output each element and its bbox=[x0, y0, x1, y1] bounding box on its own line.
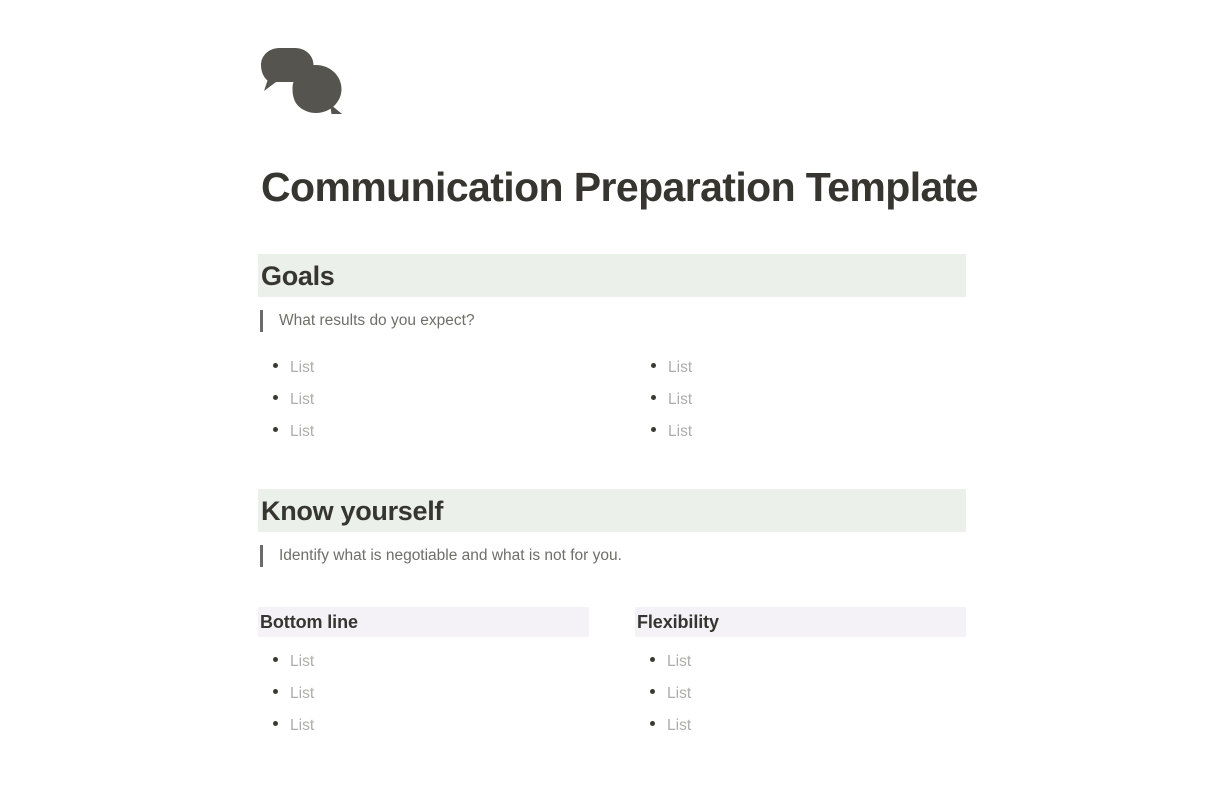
bullet-icon bbox=[273, 363, 278, 368]
callout-text: Identify what is negotiable and what is … bbox=[279, 544, 622, 567]
list-item-text: List bbox=[667, 710, 691, 742]
callout-know-yourself: Identify what is negotiable and what is … bbox=[260, 544, 966, 567]
callout-bar bbox=[260, 545, 263, 567]
list-item[interactable]: List bbox=[635, 646, 966, 678]
goals-column-left: List List List bbox=[258, 352, 636, 448]
bullet-icon bbox=[651, 363, 656, 368]
list-item[interactable]: List bbox=[258, 646, 589, 678]
goals-list-columns: List List List List bbox=[258, 352, 966, 448]
list-item[interactable]: List bbox=[258, 710, 589, 742]
bullet-icon bbox=[273, 427, 278, 432]
callout-text: What results do you expect? bbox=[279, 309, 475, 332]
subsection-heading-band: Flexibility bbox=[635, 607, 966, 637]
list-item-text: List bbox=[667, 678, 691, 710]
goals-column-right: List List List bbox=[636, 352, 966, 448]
bullet-icon bbox=[650, 721, 655, 726]
list-item[interactable]: List bbox=[636, 416, 966, 448]
know-yourself-subsections: Bottom line List List List bbox=[258, 607, 966, 742]
list-item[interactable]: List bbox=[635, 710, 966, 742]
bullet-icon bbox=[273, 689, 278, 694]
list-item[interactable]: List bbox=[258, 384, 636, 416]
list-item[interactable]: List bbox=[636, 384, 966, 416]
document-body: Communication Preparation Template Goals… bbox=[258, 0, 966, 742]
subsection-flexibility: Flexibility List List List bbox=[635, 607, 966, 742]
list-item[interactable]: List bbox=[258, 416, 636, 448]
list-item[interactable]: List bbox=[258, 352, 636, 384]
speech-bubbles-icon bbox=[258, 46, 348, 116]
subsection-heading-band: Bottom line bbox=[258, 607, 589, 637]
list-item-text: List bbox=[668, 416, 692, 448]
list-item-text: List bbox=[290, 384, 314, 416]
list-item[interactable]: List bbox=[636, 352, 966, 384]
bullet-icon bbox=[650, 657, 655, 662]
bullet-icon bbox=[273, 721, 278, 726]
bullet-icon bbox=[651, 395, 656, 400]
bullet-list: List List List bbox=[258, 646, 589, 742]
callout-goals: What results do you expect? bbox=[260, 309, 966, 332]
list-item-text: List bbox=[290, 646, 314, 678]
page-title: Communication Preparation Template bbox=[261, 163, 966, 211]
subsection-bottom-line: Bottom line List List List bbox=[258, 607, 589, 742]
list-item-text: List bbox=[668, 352, 692, 384]
list-item-text: List bbox=[290, 416, 314, 448]
bullet-icon bbox=[273, 395, 278, 400]
list-item-text: List bbox=[290, 678, 314, 710]
bullet-icon bbox=[273, 657, 278, 662]
section-heading-text: Know yourself bbox=[261, 495, 443, 527]
list-item-text: List bbox=[290, 352, 314, 384]
bullet-icon bbox=[651, 427, 656, 432]
callout-bar bbox=[260, 310, 263, 332]
list-item[interactable]: List bbox=[258, 678, 589, 710]
bullet-icon bbox=[650, 689, 655, 694]
bullet-list: List List List bbox=[636, 352, 966, 448]
list-item-text: List bbox=[290, 710, 314, 742]
bullet-list: List List List bbox=[635, 646, 966, 742]
bullet-list: List List List bbox=[258, 352, 636, 448]
list-item[interactable]: List bbox=[635, 678, 966, 710]
list-item-text: List bbox=[668, 384, 692, 416]
list-item-text: List bbox=[667, 646, 691, 678]
document-page: Communication Preparation Template Goals… bbox=[0, 0, 1223, 798]
section-heading-know-yourself: Know yourself bbox=[258, 489, 966, 532]
section-heading-text: Goals bbox=[261, 260, 335, 292]
subsection-heading-text: Flexibility bbox=[637, 611, 719, 633]
subsection-heading-text: Bottom line bbox=[260, 611, 358, 633]
section-heading-goals: Goals bbox=[258, 254, 966, 297]
